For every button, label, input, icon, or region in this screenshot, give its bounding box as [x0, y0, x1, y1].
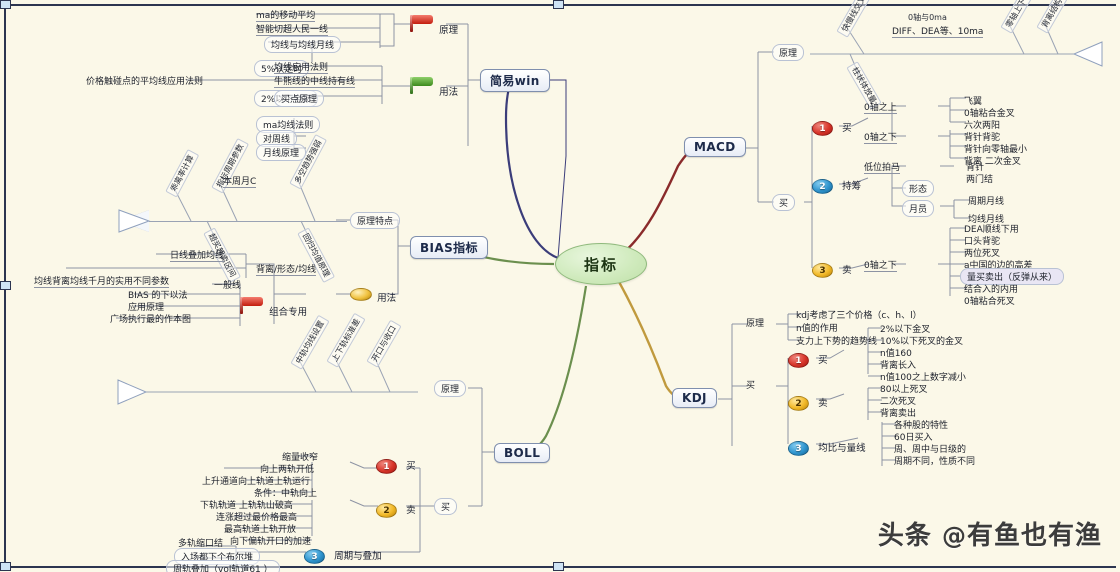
marker-2-icon: 2 — [788, 396, 809, 411]
branch-node-boll[interactable]: BOLL — [494, 443, 550, 463]
leaf-node[interactable]: 背离/形态/均线 — [256, 262, 316, 276]
watermark-at: @ — [942, 522, 967, 550]
group-label: 买 — [842, 123, 852, 134]
center-node[interactable]: 指标 — [555, 243, 647, 285]
group-boll-usage[interactable]: 买 — [434, 498, 457, 515]
marker-2-icon: 2 — [812, 179, 833, 194]
group-label: 买 — [818, 355, 828, 366]
watermark-prefix: 头条 — [878, 521, 932, 551]
leaf-node[interactable]: 0轴粘合死叉 — [964, 294, 1015, 307]
leaf-node[interactable]: 0轴之下 — [864, 130, 897, 144]
fishbone-boll[interactable]: 中轨均线设置 上下轨标准差 开口与收口 — [112, 344, 422, 424]
leaf-node[interactable]: 广场执行最的作本图 — [110, 312, 191, 325]
leaf-node[interactable]: 一般线 — [214, 278, 241, 291]
leaf-node[interactable]: 日线叠加均线 — [170, 248, 224, 262]
group-macd-usage[interactable]: 买 — [772, 194, 795, 211]
group-label: 原理 — [439, 25, 458, 36]
group-label: 买 — [406, 461, 416, 472]
leaf-node[interactable]: 周轨叠加（vol轨道61 ） — [166, 560, 280, 572]
mindmap-canvas-background — [6, 6, 1116, 566]
branch-node-macd[interactable]: MACD — [684, 137, 746, 157]
group-jianyiwin-usage[interactable]: 用法 — [408, 76, 458, 99]
marker-2-icon: 2 — [376, 503, 397, 518]
fishbone-subtitle[interactable]: DIFF、DEA等、10ma — [892, 24, 983, 38]
group-kdj-sell[interactable]: 2 卖 — [788, 391, 828, 411]
leaf-node[interactable]: 两门结 — [966, 172, 993, 185]
gold-ellipse-icon — [350, 288, 372, 301]
group-boll-period[interactable]: 3 周期与叠加 — [304, 544, 382, 564]
group-boll-sell[interactable]: 2 卖 — [376, 498, 416, 518]
branch-node-bias[interactable]: BIAS指标 — [410, 236, 488, 259]
group-label: 组合专用 — [269, 307, 307, 318]
watermark: 头条 @有鱼也有渔 — [878, 515, 1102, 552]
group-macd-sell[interactable]: 3 卖 — [812, 258, 852, 278]
group-macd-buy[interactable]: 1 买 — [812, 116, 852, 136]
group-kdj-principle[interactable]: 原理 — [746, 316, 764, 329]
red-flag-icon — [238, 296, 264, 315]
leaf-node[interactable]: 均线与均线月线 — [264, 36, 341, 53]
group-jianyiwin-principle[interactable]: 原理 — [408, 14, 458, 37]
fishbone-title[interactable]: 本周月C — [223, 174, 256, 188]
leaf-node[interactable]: 牛熊线的中线持有线 — [274, 74, 355, 88]
group-kdj-usage[interactable]: 买 — [746, 378, 755, 391]
mindmap-screenshot: 指标 简易win 原理 ma的移动平均 智能切超人民一线 均线与均线月线 用法 … — [0, 0, 1120, 572]
group-bias-principle-features[interactable]: 原理特点 — [350, 212, 400, 229]
group-label: 用法 — [439, 87, 458, 98]
marker-1-icon: 1 — [376, 459, 397, 474]
leaf-node[interactable]: 0轴之上 — [864, 100, 897, 114]
group-label: 用法 — [377, 293, 396, 304]
marker-1-icon: 1 — [788, 353, 809, 368]
group-label: 卖 — [406, 505, 416, 516]
marker-3-icon: 3 — [304, 549, 325, 564]
group-boll-principle[interactable]: 原理 — [434, 380, 466, 397]
group-kdj-buy[interactable]: 1 买 — [788, 348, 828, 368]
leaf-node[interactable]: 0轴之下 — [864, 258, 897, 272]
group-kdj-period[interactable]: 3 均比与量线 — [788, 436, 866, 456]
leaf-node[interactable]: 智能切超人民一线 — [256, 22, 328, 36]
leaf-node[interactable]: 月线原理 — [256, 144, 306, 161]
green-flag-icon — [408, 76, 434, 95]
branch-node-jianyiwin[interactable]: 简易win — [480, 69, 550, 92]
watermark-account: 有鱼也有渔 — [967, 521, 1102, 551]
leaf-node[interactable]: 低位拍马 — [864, 160, 900, 174]
selection-handle-middle-left[interactable] — [0, 281, 11, 290]
group-macd-principle[interactable]: 原理 — [772, 44, 804, 61]
leaf-node[interactable]: kdj考虑了三个价格（c、h、l） — [796, 308, 922, 321]
group-boll-buy[interactable]: 1 买 — [376, 454, 416, 474]
group-bias-usage[interactable]: 用法 — [350, 286, 396, 305]
selection-handle-top-center[interactable] — [553, 0, 564, 9]
fishbone-macd[interactable]: 快慢线交叉 柱状体放量 零轴上下位置 背离结构识别 0轴与0ma DIFF、DE… — [806, 12, 1106, 86]
leaf-node[interactable]: 周期不同，性质不同 — [894, 454, 975, 467]
leaf-node[interactable]: n值的作用 — [796, 321, 838, 334]
fishbone-bias[interactable]: 乖离率计算 指标周期参数 多空趋势强弱 超买超卖区间 回归均值原理 本周月C — [111, 166, 351, 248]
group-label: 周期与叠加 — [334, 551, 382, 562]
selection-handle-bottom-left[interactable] — [0, 562, 11, 571]
selection-handle-bottom-center[interactable] — [553, 562, 564, 571]
branch-node-kdj[interactable]: KDJ — [672, 388, 717, 408]
leaf-node[interactable]: 买点原理 — [274, 90, 324, 107]
group-bias-combo[interactable]: 组合专用 — [238, 296, 307, 319]
fishbone-title[interactable]: 0轴与0ma — [908, 12, 947, 23]
leaf-node[interactable]: 月员 — [902, 200, 934, 217]
marker-3-icon: 3 — [812, 263, 833, 278]
leaf-node[interactable]: ma的移动平均 — [256, 8, 315, 22]
mindmap-canvas[interactable]: 指标 简易win 原理 ma的移动平均 智能切超人民一线 均线与均线月线 用法 … — [4, 4, 1116, 568]
group-label: 持筹 — [842, 181, 861, 192]
leaf-node[interactable]: 价格触碰点的平均线应用法则 — [86, 74, 203, 87]
selection-handle-top-left[interactable] — [0, 0, 11, 9]
marker-3-icon: 3 — [788, 441, 809, 456]
leaf-node[interactable]: 均线背离均线千月的实用不同参数 — [34, 274, 169, 288]
leaf-node[interactable]: 支力上下势的趋势线 — [796, 334, 877, 347]
leaf-node[interactable]: 周期月线 — [968, 194, 1004, 207]
group-label: 均比与量线 — [818, 443, 866, 454]
marker-1-icon: 1 — [812, 121, 833, 136]
leaf-node[interactable]: 均线应用法则 — [274, 60, 328, 74]
group-label: 卖 — [818, 398, 828, 409]
leaf-node[interactable]: 向下偏轨开口的加速 — [230, 534, 311, 547]
group-label: 卖 — [842, 265, 852, 276]
red-flag-icon — [408, 14, 434, 33]
group-macd-hold[interactable]: 2 持筹 — [812, 174, 861, 194]
leaf-node[interactable]: 形态 — [902, 180, 934, 197]
